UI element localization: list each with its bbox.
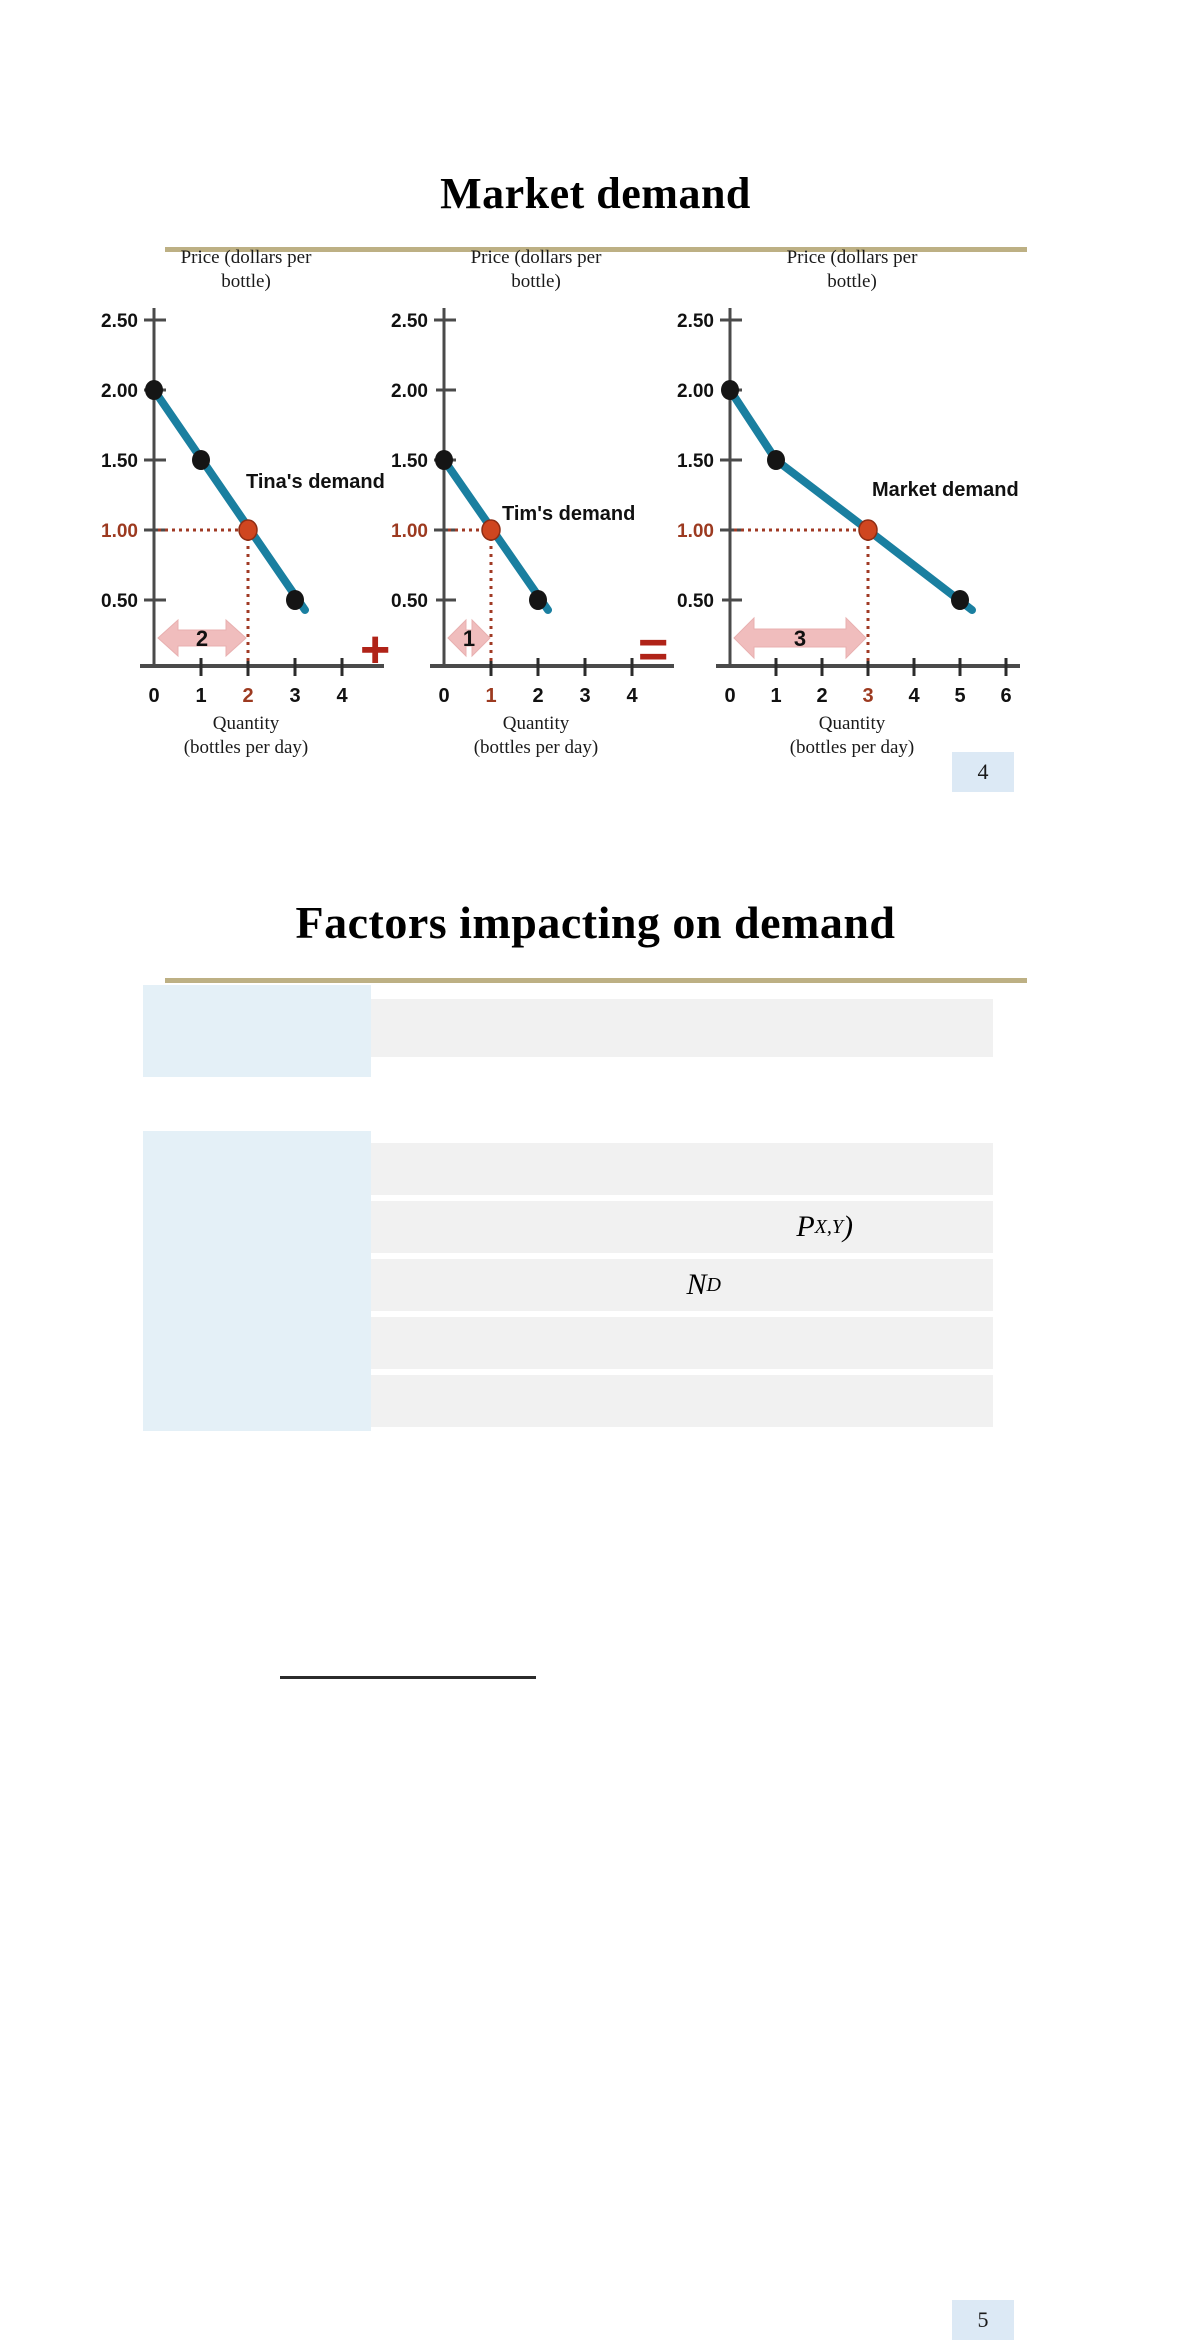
- x-axis-title-line2: (bottles per day): [184, 737, 309, 758]
- charts-row: Price (dollars per bottle) 2.50 2.00: [0, 246, 1191, 786]
- factors-group: PX,Y) ND: [143, 1131, 993, 1431]
- x-tick-2: 2: [816, 685, 827, 707]
- chart-tinas-demand: Price (dollars per bottle) 2.50 2.00: [96, 246, 396, 760]
- cross-price-symbol: P: [796, 1210, 814, 1244]
- y-tick-100-highlight: 1.00: [101, 521, 138, 542]
- y-tick-100-highlight: 1.00: [677, 521, 714, 542]
- demand-curve: [154, 390, 305, 610]
- data-point-marker: [435, 450, 453, 470]
- x-tick-0: 0: [148, 685, 159, 707]
- x-tick-1: 1: [770, 685, 781, 707]
- equals-operator-icon: =: [638, 624, 668, 676]
- factors-group-label-cell: [143, 1131, 371, 1431]
- page-number-badge: 4: [952, 752, 1014, 792]
- x-tick-6: 6: [1000, 685, 1011, 707]
- y-axis-title-line2: bottle): [221, 271, 271, 292]
- x-tick-3-highlight: 3: [862, 685, 873, 707]
- cross-price-formula: PX,Y): [796, 1201, 853, 1253]
- x-axis-title-line1: Quantity: [213, 713, 280, 734]
- table-row: [371, 1143, 993, 1195]
- table-row: [371, 999, 993, 1057]
- plot-svg-tina: 2.50 2.00 1.50 1.00 0.50 0 1 2 3 4: [96, 298, 396, 708]
- data-point-marker: [192, 450, 210, 470]
- x-tick-3: 3: [579, 685, 590, 707]
- span-arrow-label: 3: [794, 626, 806, 651]
- x-tick-2: 2: [532, 685, 543, 707]
- page-title: Market demand: [0, 29, 1191, 217]
- y-axis-title-line1: Price (dollars per: [181, 247, 312, 268]
- slide-market-demand: Market demand Price (dollars per bottle): [0, 0, 1191, 820]
- x-tick-1: 1: [195, 685, 206, 707]
- x-tick-4: 4: [336, 685, 348, 707]
- y-axis-title-line2: bottle): [827, 271, 877, 292]
- buyers-symbol: N: [687, 1268, 707, 1302]
- span-arrow: 2: [158, 620, 246, 656]
- table-row: [371, 1057, 993, 1077]
- data-point-marker-highlight: [859, 520, 877, 540]
- y-axis-title-line1: Price (dollars per: [787, 247, 918, 268]
- x-tick-2-highlight: 2: [242, 685, 253, 707]
- series-label: Market demand: [872, 479, 1019, 501]
- data-point-marker: [529, 590, 547, 610]
- factors-group-rows: PX,Y) ND: [371, 1131, 993, 1431]
- y-tick-050: 0.50: [391, 591, 428, 612]
- cross-price-paren: ): [843, 1210, 853, 1244]
- factors-group-rows: [371, 985, 993, 1077]
- plot-svg-market: 2.50 2.00 1.50 1.00 0.50 0 1 2 3: [672, 298, 1032, 708]
- chart-market-demand: Price (dollars per bottle) 2.50 2.00 1.5…: [672, 246, 1032, 760]
- y-tick-250: 2.50: [391, 311, 428, 332]
- factors-table: PX,Y) ND: [143, 985, 993, 1431]
- y-tick-200: 2.00: [677, 381, 714, 402]
- buyers-superscript: D: [707, 1274, 721, 1297]
- x-axis-title: Quantity (bottles per day): [96, 712, 396, 760]
- y-axis-title-line1: Price (dollars per: [471, 247, 602, 268]
- factors-group: [143, 985, 993, 1077]
- y-axis-title: Price (dollars per bottle): [386, 246, 686, 298]
- page-number-badge: 5: [952, 2300, 1014, 2340]
- y-tick-150: 1.50: [677, 451, 714, 472]
- buyers-formula: ND: [687, 1259, 721, 1311]
- cross-price-subscript: X,Y: [815, 1216, 843, 1239]
- title-divider: [165, 978, 1027, 983]
- y-tick-250: 2.50: [101, 311, 138, 332]
- x-axis-title-line1: Quantity: [819, 713, 886, 734]
- x-tick-1-highlight: 1: [485, 685, 496, 707]
- x-axis-title: Quantity (bottles per day): [386, 712, 686, 760]
- x-tick-4: 4: [908, 685, 920, 707]
- x-axis-title-line2: (bottles per day): [474, 737, 599, 758]
- table-row: [371, 1375, 993, 1427]
- x-axis-title-line2: (bottles per day): [790, 737, 915, 758]
- data-point-marker-highlight: [482, 520, 500, 540]
- chart-tims-demand: Price (dollars per bottle) 2.50 2.00 1.5…: [386, 246, 686, 760]
- y-axis-title: Price (dollars per bottle): [96, 246, 396, 298]
- data-point-marker-highlight: [239, 520, 257, 540]
- span-arrow: 1: [448, 620, 490, 656]
- page-title: Factors impacting on demand: [0, 861, 1191, 947]
- y-tick-200: 2.00: [101, 381, 138, 402]
- plus-operator-icon: +: [360, 624, 390, 676]
- table-row: [371, 1131, 993, 1143]
- factors-group-label-cell: [143, 985, 371, 1077]
- span-arrow-label: 2: [196, 626, 208, 651]
- y-axis-title-line2: bottle): [511, 271, 561, 292]
- x-tick-3: 3: [289, 685, 300, 707]
- table-row: [371, 985, 993, 999]
- data-point-marker: [951, 590, 969, 610]
- y-tick-150: 1.50: [101, 451, 138, 472]
- plot-area-market: 2.50 2.00 1.50 1.00 0.50 0 1 2 3: [672, 298, 1032, 708]
- x-axis-title-line1: Quantity: [503, 713, 570, 734]
- span-arrow-label: 1: [463, 626, 475, 651]
- data-point-marker: [721, 380, 739, 400]
- table-row: [371, 1317, 993, 1369]
- series-label: Tim's demand: [502, 503, 635, 525]
- plot-area-tina: 2.50 2.00 1.50 1.00 0.50 0 1 2 3 4: [96, 298, 396, 708]
- slide-factors-impacting-on-demand: Factors impacting on demand PX,Y): [0, 830, 1191, 1685]
- table-group-gap: [143, 1077, 993, 1131]
- x-tick-4: 4: [626, 685, 638, 707]
- y-tick-200: 2.00: [391, 381, 428, 402]
- x-tick-5: 5: [954, 685, 965, 707]
- x-tick-0: 0: [724, 685, 735, 707]
- y-tick-050: 0.50: [101, 591, 138, 612]
- data-point-marker: [767, 450, 785, 470]
- y-tick-050: 0.50: [677, 591, 714, 612]
- data-point-marker: [145, 380, 163, 400]
- y-axis-title: Price (dollars per bottle): [672, 246, 1032, 298]
- table-row-buyers: ND: [371, 1259, 993, 1311]
- y-tick-150: 1.50: [391, 451, 428, 472]
- y-tick-250: 2.50: [677, 311, 714, 332]
- page-bottom-divider: [280, 1676, 536, 1679]
- series-label: Tina's demand: [246, 471, 385, 493]
- span-arrow: 3: [734, 618, 866, 658]
- data-point-marker: [286, 590, 304, 610]
- x-tick-0: 0: [438, 685, 449, 707]
- y-tick-100-highlight: 1.00: [391, 521, 428, 542]
- table-row-cross-price: PX,Y): [371, 1201, 993, 1253]
